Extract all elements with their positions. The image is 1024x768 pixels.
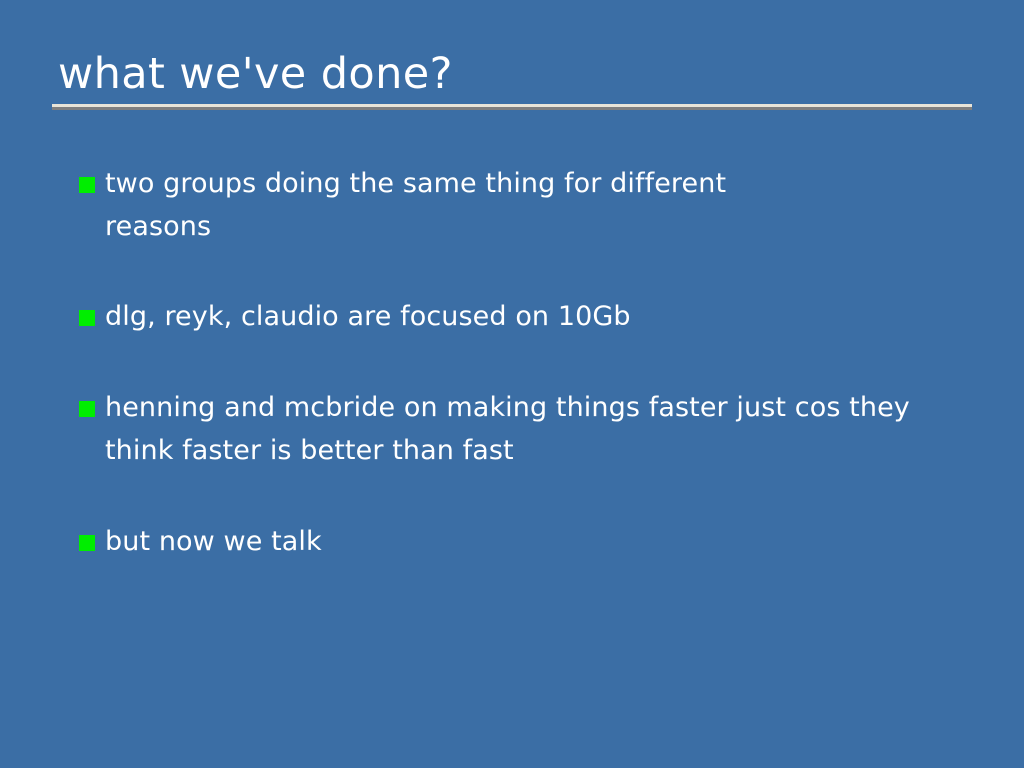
slide-title-block: what we've done?	[52, 46, 972, 102]
presentation-slide: what we've done? two groups doing the sa…	[0, 0, 1024, 768]
list-item: but now we talk	[79, 520, 705, 563]
green-square-bullet-icon	[79, 177, 95, 193]
page-title: what we've done?	[52, 46, 972, 102]
title-underline-rule	[52, 104, 972, 110]
list-item-label: two groups doing the same thing for diff…	[105, 162, 835, 248]
green-square-bullet-icon	[79, 535, 95, 551]
list-item-label: but now we talk	[105, 520, 705, 563]
list-item: henning and mcbride on making things fas…	[79, 386, 957, 472]
list-item: dlg, reyk, claudio are focused on 10Gb	[79, 295, 905, 338]
bullet-list: two groups doing the same thing for diff…	[79, 162, 959, 563]
list-item-label: henning and mcbride on making things fas…	[105, 386, 957, 472]
green-square-bullet-icon	[79, 310, 95, 326]
list-item: two groups doing the same thing for diff…	[79, 162, 835, 248]
green-square-bullet-icon	[79, 401, 95, 417]
title-rule-shadow	[52, 107, 972, 110]
list-item-label: dlg, reyk, claudio are focused on 10Gb	[105, 295, 905, 338]
